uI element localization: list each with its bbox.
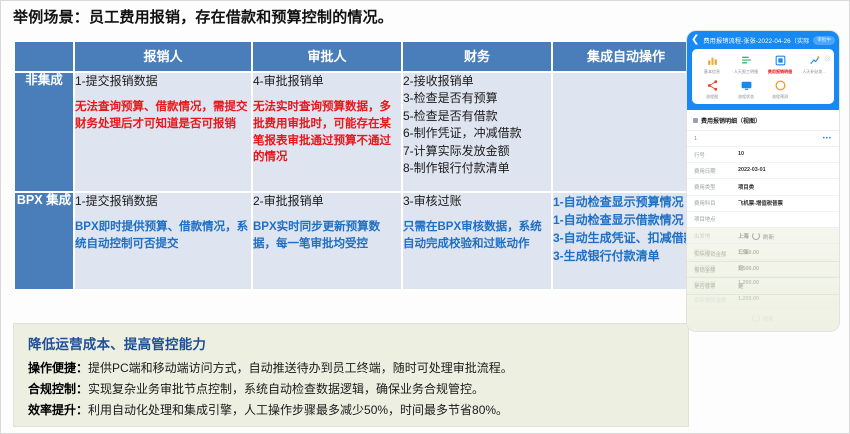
field-value: 飞机票-增值税普票: [738, 199, 783, 207]
page-title: 举例场景：员工费用报销，存在借款和预算控制的情况。: [13, 6, 393, 27]
tabs-card: 基本信息 人天报工明细: [692, 49, 834, 104]
cell-step-text: 2-接收报销单 3-检查是否有预算 5-检查是否有借款 6-制作凭证，冲减借款 …: [403, 73, 551, 177]
row-label-bpx-integrated: BPX 集成: [15, 193, 73, 289]
tab-label: 人天报工明细: [730, 69, 761, 75]
field-key: 费用科目: [694, 199, 738, 207]
field-value: 1,200.00: [738, 280, 759, 288]
field-key: 项目地点: [694, 215, 738, 223]
list-item: 实际报销金额 1,200.00: [687, 293, 839, 309]
benefit-line: 效率提升：利用自动化处理和集成引擎，人工操作步骤最多减少50%，时间最多节省80…: [28, 401, 676, 419]
gear-icon[interactable]: [824, 55, 831, 62]
field-value: 三亚: [738, 248, 749, 256]
list-item: 报销金额 1,200.00: [687, 277, 839, 293]
app-title: 费用报销流程-张张-2022-04-26（实际...: [703, 36, 809, 45]
automation-list: 1-自动检查显示预算情况 1-自动检查显示借款情况 3-自动生成凭证、扣减借款 …: [553, 193, 699, 265]
benefit-title: 降低运营成本、提高管控能力: [28, 333, 676, 353]
tab-manday-report[interactable]: 人天报工明细: [729, 54, 763, 75]
bar-chart-icon: [706, 54, 719, 67]
app-header: ❮ 费用报销流程-张张-2022-04-26（实际... 审批中: [687, 31, 839, 49]
cell-bpx-automation: 1-自动检查显示预算情况 1-自动检查显示借款情况 3-自动生成凭证、扣减借款 …: [553, 193, 699, 289]
monitor-icon: [740, 79, 753, 92]
list-item: 到达地 三亚: [687, 244, 839, 260]
tab-label: 费用报销明细: [764, 69, 795, 75]
tab-label: 基本信息: [696, 69, 727, 75]
column-header-1: 审批人: [253, 42, 401, 71]
tab-process-forecast[interactable]: 流程预测: [763, 79, 797, 100]
field-key: 费用类型: [694, 183, 738, 191]
tab-row-secondary: 流程图 流程状态 流程预测: [695, 79, 831, 100]
column-header-0: 报销人: [75, 42, 251, 71]
cell-non-integrated-automation: [553, 73, 699, 191]
list-item: 费用科目 飞机票-增值税普票: [687, 196, 839, 212]
field-value: 是: [738, 264, 743, 272]
section-header: 费用报销明细（视图）: [687, 110, 839, 131]
field-key: 费用日期: [694, 167, 738, 175]
row-label-non-integrated: 非集成: [15, 73, 73, 191]
column-header-2: 财务: [403, 42, 551, 71]
refresh-button[interactable]: 刷新: [687, 309, 839, 328]
status-badge: 审批中: [813, 36, 835, 45]
comparison-table: 报销人 审批人 财务 集成自动操作 非集成 1-提交报销数据 无法查询预算、借款…: [13, 40, 701, 291]
tab-expense-detail[interactable]: 费用报销明细: [763, 54, 797, 75]
cell-non-integrated-finance: 2-接收报销单 3-检查是否有预算 5-检查是否有借款 6-制作凭证，冲减借款 …: [403, 73, 551, 191]
list-item: 行号 10: [687, 147, 839, 163]
cell-step-text: 1-提交报销数据: [75, 73, 251, 90]
cell-note-text: BPX实时同步更新预算数据，每一笔审批均受控: [253, 219, 401, 252]
list-item: 费用类型 项目类: [687, 179, 839, 195]
circle-icon: [774, 79, 787, 92]
tab-process-diagram[interactable]: 流程图: [695, 79, 729, 100]
benefit-line: 合规控制：实现复杂业务审批节点控制，系统自动检查数据逻辑，确保业务合规管控。: [28, 380, 676, 398]
list-icon: [740, 54, 753, 67]
cell-bpx-finance: 3-审核过账 只需在BPX审核数据，系统自动完成校验和过账动作: [403, 193, 551, 289]
cell-bpx-approver: 2-审批报销单 BPX实时同步更新预算数据，每一笔审批均受控: [253, 193, 401, 289]
tab-label: 流程状态: [730, 94, 761, 100]
grid-icon: [693, 118, 698, 123]
column-header-3: 集成自动操作: [553, 42, 699, 71]
tab-label: 流程图: [696, 94, 727, 100]
tab-process-status[interactable]: 流程状态: [729, 79, 763, 100]
header-corner-blank: [15, 42, 73, 71]
share-icon: [706, 79, 719, 92]
field-value: 10: [738, 151, 744, 159]
cell-note-text: 只需在BPX审核数据，系统自动完成校验和过账动作: [403, 219, 551, 252]
cell-step-text: 2-审批报销单: [253, 193, 401, 210]
cell-step-text: 3-审核过账: [403, 193, 551, 210]
field-key: 报销金额: [694, 280, 738, 288]
tab-label: 流程预测: [764, 94, 795, 100]
table-row: BPX 集成 1-提交报销数据 BPX即时提供预算、借款情况，系统自动控制可否提…: [15, 193, 699, 289]
field-value: 2022-03-01: [738, 167, 766, 175]
section-title: 费用报销明细（视图）: [701, 116, 761, 125]
cell-bpx-claimant: 1-提交报销数据 BPX即时提供预算、借款情况，系统自动控制可否提交: [75, 193, 251, 289]
benefit-line-text: 提供PC端和移动端访问方式，自动推送待办到员工终端，随时可处理审批流程。: [88, 361, 513, 375]
table-header-row: 报销人 审批人 财务 集成自动操作: [15, 42, 699, 71]
refresh-label: 刷新: [763, 317, 774, 323]
cell-step-text: 4-审批报销单: [253, 73, 401, 90]
field-value: 上海: [738, 232, 749, 240]
field-value: 1,200.00: [738, 296, 759, 304]
table-row: 非集成 1-提交报销数据 无法查询预算、借款情况，需提交财务处理后才可知道是否可…: [15, 73, 699, 191]
benefit-line: 操作便捷：提供PC端和移动端访问方式，自动推送待办到员工终端，随时可处理审批流程…: [28, 359, 676, 377]
mobile-app-screenshot: ❮ 费用报销流程-张张-2022-04-26（实际... 审批中: [687, 31, 839, 331]
cell-note-text: 无法实时查询预算数据，多批费用审批时，可能存在某笔报表审批通过预算不通过的情况: [253, 99, 401, 166]
benefit-box: 降低运营成本、提高管控能力 操作便捷：提供PC端和移动端访问方式，自动推送待办到…: [13, 323, 689, 427]
benefit-line-label: 效率提升：: [28, 403, 88, 417]
tab-basic-info[interactable]: 基本信息: [695, 54, 729, 75]
list-item: 出发地 上海: [687, 228, 839, 244]
field-key: 实际报销金额: [694, 296, 738, 304]
field-key: 是否替票: [694, 264, 738, 272]
field-key: 到达地: [694, 248, 738, 256]
field-key: 出发地: [694, 232, 738, 240]
field-value: 项目类: [738, 183, 754, 191]
record-header: 1 •••: [687, 131, 839, 147]
back-icon[interactable]: ❮: [691, 35, 699, 45]
list-item: 项目地点: [687, 212, 839, 228]
benefit-line-text: 利用自动化处理和集成引擎，人工操作步骤最多减少50%，时间最多节省80%。: [88, 403, 508, 417]
tabs-panel-backdrop: 基本信息 人天报工明细: [687, 49, 839, 110]
record-index: 1: [694, 136, 697, 142]
field-key: 行号: [694, 151, 738, 159]
tab-row-primary: 基本信息 人天报工明细: [695, 54, 831, 75]
cell-note-text: 无法查询预算、借款情况，需提交财务处理后才可知道是否可报销: [75, 99, 251, 132]
cell-step-text: 1-提交报销数据: [75, 193, 251, 210]
form-icon: [774, 54, 787, 67]
more-options-icon[interactable]: •••: [823, 136, 832, 142]
slide-root: 举例场景：员工费用报销，存在借款和预算控制的情况。 报销人 审批人 财务 集成自…: [0, 0, 850, 434]
cell-note-text: BPX即时提供预算、借款情况，系统自动控制可否提交: [75, 219, 251, 252]
cell-non-integrated-approver: 4-审批报销单 无法实时查询预算数据，多批费用审批时，可能存在某笔报表审批通过预…: [253, 73, 401, 191]
benefit-line-text: 实现复杂业务审批节点控制，系统自动检查数据逻辑，确保业务合规管控。: [88, 382, 484, 396]
benefit-line-label: 操作便捷：: [28, 361, 88, 375]
cell-non-integrated-claimant: 1-提交报销数据 无法查询预算、借款情况，需提交财务处理后才可知道是否可报销: [75, 73, 251, 191]
tab-label: 人天补贴发...: [798, 69, 829, 75]
list-item: 是否替票 是: [687, 260, 839, 276]
list-item: 费用日期 2022-03-01: [687, 163, 839, 179]
benefit-line-label: 合规控制：: [28, 382, 88, 396]
trend-icon: [808, 54, 821, 67]
spinner-icon: [752, 314, 760, 322]
